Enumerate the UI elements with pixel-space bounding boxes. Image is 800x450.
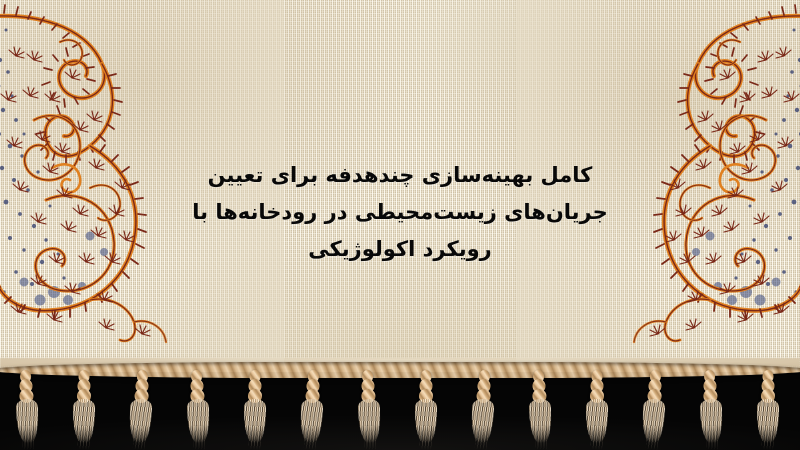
page-title: کامل بهینه‌سازی چندهدفه برای تعیین جریان…	[0, 157, 800, 268]
tassel-wisp	[474, 425, 489, 450]
tassel-wisp	[706, 426, 719, 450]
tassel	[637, 367, 671, 450]
title-line-2: جریان‌های زیست‌محیطی در رودخانه‌ها با	[190, 194, 610, 231]
tassel	[295, 367, 329, 450]
title-card-canvas: کامل بهینه‌سازی چندهدفه برای تعیین جریان…	[0, 0, 800, 450]
title-line-3: رویکرد اکولوژیکی	[190, 231, 610, 268]
tassel-wisp	[419, 426, 433, 450]
tassel	[694, 367, 728, 450]
tassel	[411, 368, 441, 450]
tassel	[582, 368, 612, 450]
tassel-wisp	[303, 425, 318, 450]
tassel-wisp	[22, 426, 35, 450]
tassel-wisp	[193, 426, 206, 450]
tassel-wisp	[645, 425, 660, 450]
tassel	[240, 368, 270, 450]
tassel	[124, 367, 158, 450]
tassel	[69, 368, 99, 450]
tassel-wisp	[590, 426, 604, 450]
tassel-wisp	[761, 426, 775, 450]
tassel-wisp	[132, 425, 147, 450]
title-line-1: کامل بهینه‌سازی چندهدفه برای تعیین	[190, 157, 610, 194]
tassel	[181, 367, 215, 450]
tassel	[10, 367, 44, 450]
tassel-wisp	[248, 426, 262, 450]
tassel	[753, 368, 783, 450]
tassel-wisp	[77, 426, 91, 450]
tassel-wisp	[535, 426, 548, 450]
tassel	[523, 367, 557, 450]
tassel-fringe	[0, 368, 800, 450]
tassel	[466, 367, 500, 450]
tassel-wisp	[364, 426, 377, 450]
tassel	[352, 367, 386, 450]
